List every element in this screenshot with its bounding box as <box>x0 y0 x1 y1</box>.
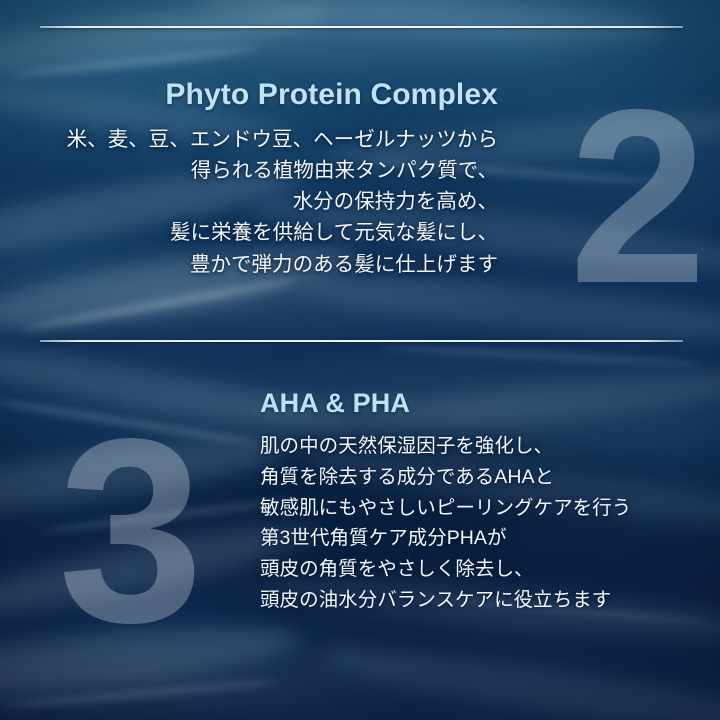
section-numeral-2: 2 <box>569 72 702 320</box>
body-line: 敏感肌にもやさしいピーリングケアを行う <box>260 493 631 524</box>
section-numeral-3: 3 <box>58 400 198 662</box>
divider-mid <box>40 340 683 342</box>
body-line: 第3世代角質ケア成分PHAが <box>260 523 631 554</box>
body-line: 髪に栄養を供給して元気な髪にし、 <box>67 217 498 248</box>
section-title-aha-pha: AHA & PHA <box>260 388 631 419</box>
section-3-body: 肌の中の天然保湿因子を強化し、 角質を除去する成分であるAHAと 敏感肌にもやさ… <box>260 431 631 616</box>
body-line: 米、麦、豆、エンドウ豆、ヘーゼルナッツから <box>67 124 498 155</box>
body-line: 角質を除去する成分であるAHAと <box>260 462 631 493</box>
ingredient-panel: 2 3 Phyto Protein Complex 米、麦、豆、エンドウ豆、ヘー… <box>0 0 720 720</box>
body-line: 肌の中の天然保湿因子を強化し、 <box>260 431 631 462</box>
body-line: 頭皮の角質をやさしく除去し、 <box>260 554 631 585</box>
body-line: 得られる植物由来タンパク質で、 <box>67 155 498 186</box>
body-line: 頭皮の油水分バランスケアに役立ちます <box>260 585 631 616</box>
body-line: 豊かで弾力のある髪に仕上げます <box>67 249 498 280</box>
section-title-phyto-protein-complex: Phyto Protein Complex <box>67 78 498 112</box>
section-2-body: 米、麦、豆、エンドウ豆、ヘーゼルナッツから 得られる植物由来タンパク質で、 水分… <box>67 124 498 280</box>
body-line: 水分の保持力を高め、 <box>67 186 498 217</box>
section-aha-pha: AHA & PHA 肌の中の天然保湿因子を強化し、 角質を除去する成分であるAH… <box>260 388 631 616</box>
divider-top <box>40 26 683 28</box>
section-phyto-protein-complex: Phyto Protein Complex 米、麦、豆、エンドウ豆、ヘーゼルナッ… <box>67 78 498 280</box>
